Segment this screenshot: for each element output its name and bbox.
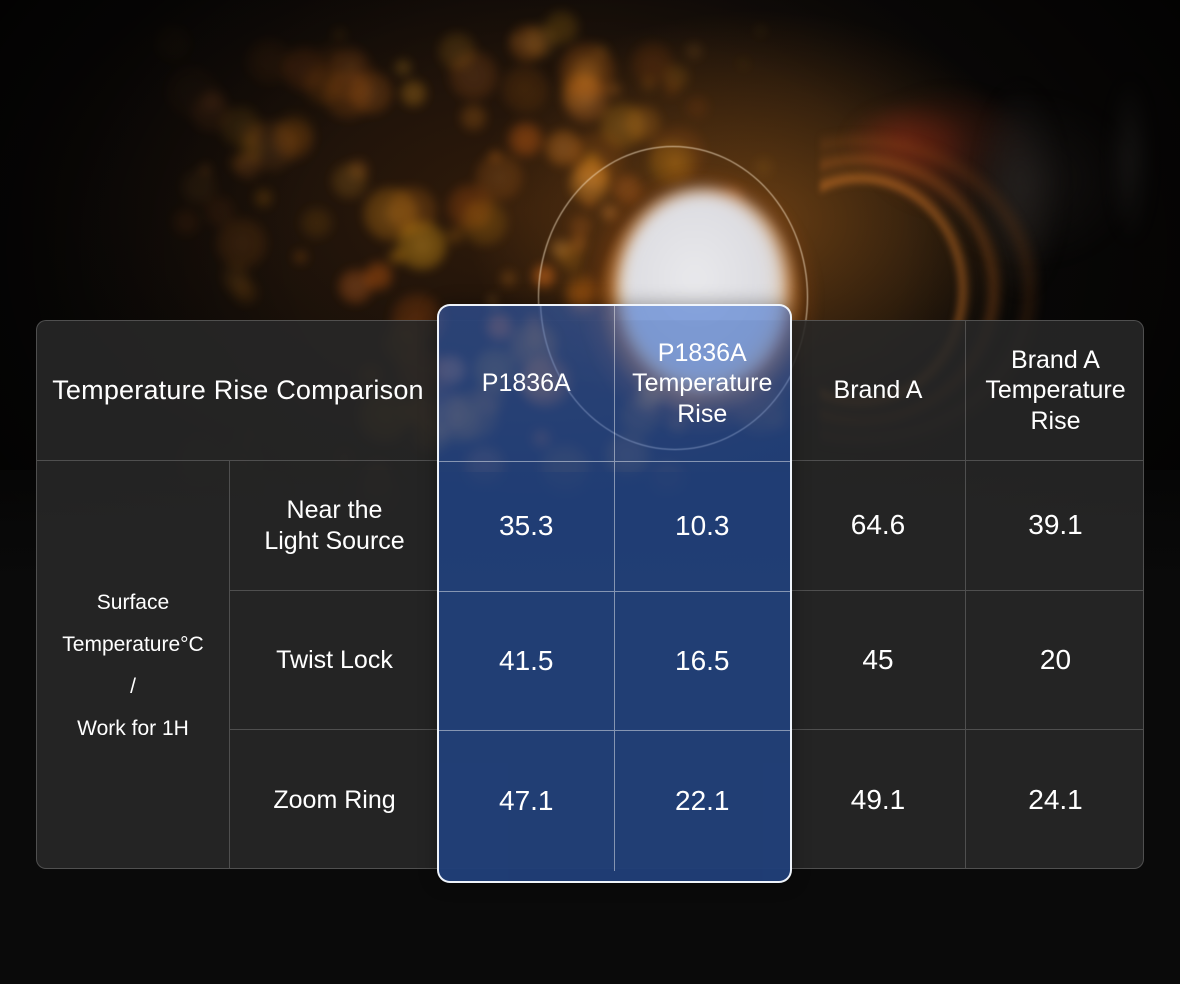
cell-r2-brand-a-rise: 20 — [966, 591, 1144, 730]
header-brand-a-temp-rise: Brand A Temperature Rise — [966, 321, 1144, 461]
row-label-zoom-ring: Zoom Ring — [230, 730, 440, 869]
header-brand-a: Brand A — [791, 321, 966, 461]
highlight-cell-r2-c2: 16.5 — [615, 592, 791, 731]
highlight-header-p1836a: P1836A — [439, 306, 615, 462]
group-label-line-3: / — [130, 675, 136, 698]
row-label-twist-lock: Twist Lock — [230, 591, 440, 730]
cell-r3-brand-a: 49.1 — [791, 730, 966, 869]
cell-r2-brand-a: 45 — [791, 591, 966, 730]
highlight-header-p1836a-temp-rise: P1836A Temperature Rise — [615, 306, 791, 462]
product-comparison-infographic: Temperature Rise Comparison Brand A Bran… — [0, 0, 1180, 984]
row-label-line-1: Near the — [287, 496, 383, 524]
highlight-cell-r1-c1: 35.3 — [439, 462, 615, 592]
group-label-line-2: Temperature°C — [62, 633, 203, 656]
group-label-surface-temperature: Surface Temperature°C / Work for 1H — [37, 461, 230, 869]
cell-r3-brand-a-rise: 24.1 — [966, 730, 1144, 869]
group-label-text: Surface Temperature°C / Work for 1H — [62, 582, 203, 750]
cell-r1-brand-a: 64.6 — [791, 461, 966, 591]
highlighted-product-column: P1836A P1836A Temperature Rise 35.3 10.3… — [437, 304, 792, 883]
highlight-cell-r3-c1: 47.1 — [439, 731, 615, 871]
highlight-cell-r1-c2: 10.3 — [615, 462, 791, 592]
table-title: Temperature Rise Comparison — [37, 321, 440, 461]
highlight-cell-r2-c1: 41.5 — [439, 592, 615, 731]
cell-r1-brand-a-rise: 39.1 — [966, 461, 1144, 591]
row-label-line-2: Light Source — [264, 527, 404, 555]
group-label-line-1: Surface — [97, 591, 169, 614]
highlight-cell-r3-c2: 22.1 — [615, 731, 791, 871]
group-label-line-4: Work for 1H — [77, 717, 189, 740]
row-label-near-light-source: Near the Light Source — [230, 461, 440, 591]
